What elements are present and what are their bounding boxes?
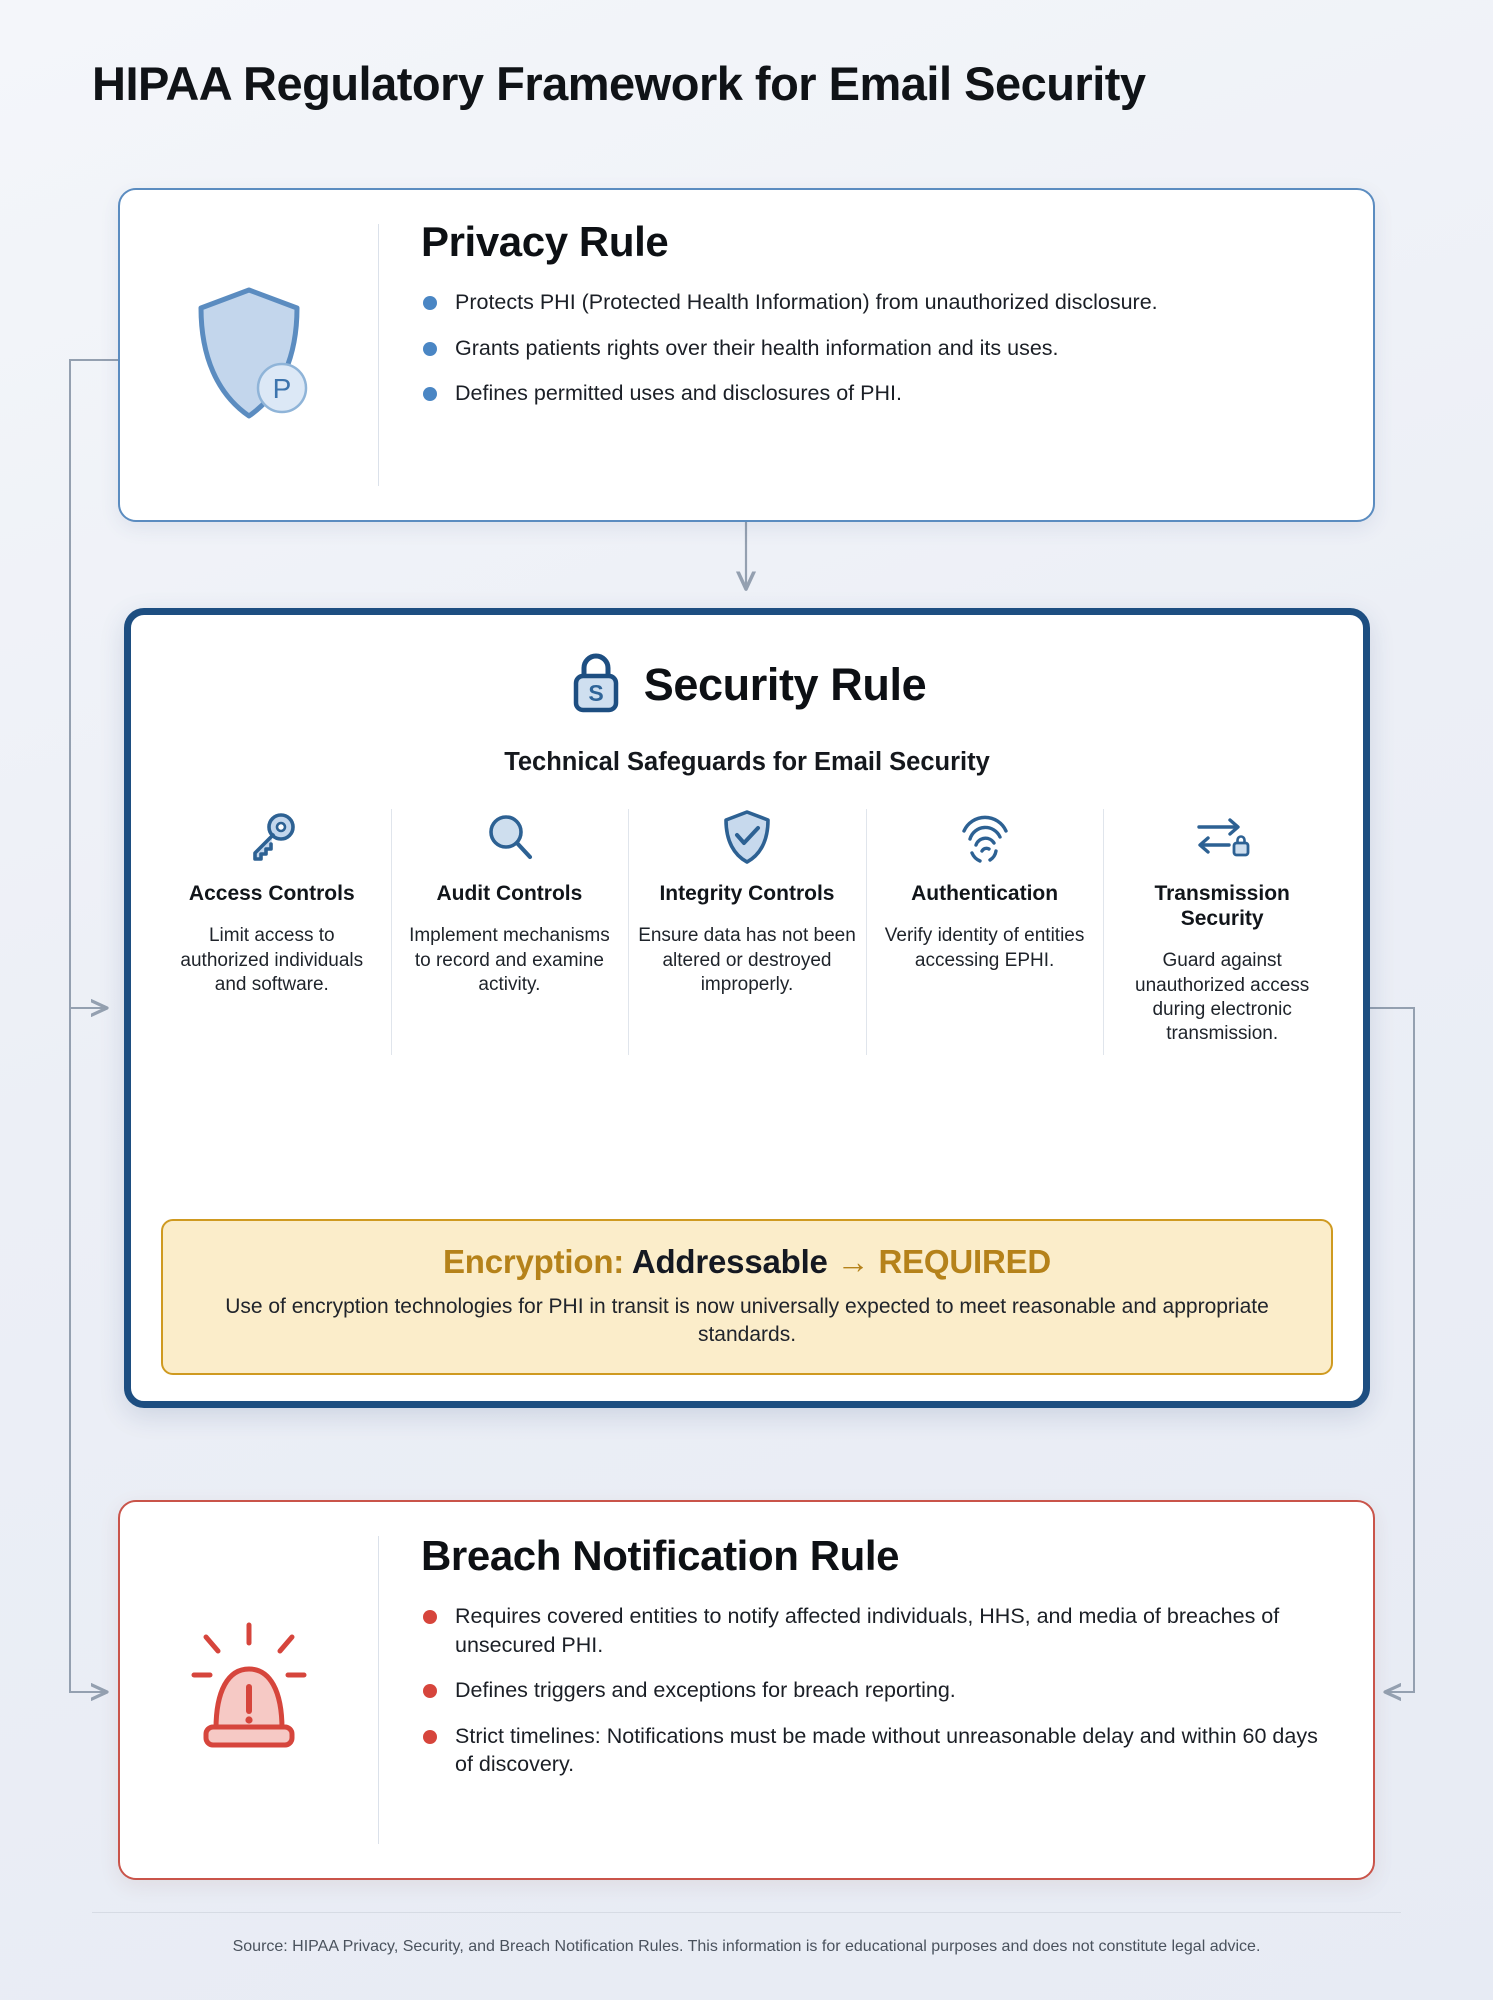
privacy-rule-card: P Privacy Rule Protects PHI (Protected H… — [118, 188, 1375, 522]
encryption-callout: Encryption: Addressable → REQUIRED Use o… — [161, 1219, 1333, 1375]
breach-notification-rule-card: Breach Notification Rule Requires covere… — [118, 1500, 1375, 1880]
safeguard-label: Access Controls — [163, 881, 381, 906]
magnifier-icon — [401, 807, 619, 867]
encryption-headline: Encryption: Addressable → REQUIRED — [193, 1243, 1301, 1281]
encryption-label: Encryption: — [443, 1243, 624, 1280]
list-item: Strict timelines: Notifications must be … — [421, 1722, 1337, 1779]
breach-rule-title: Breach Notification Rule — [421, 1532, 1337, 1580]
safeguard-label: Authentication — [876, 881, 1094, 906]
privacy-rule-title: Privacy Rule — [421, 218, 1339, 266]
safeguard-integrity-controls: Integrity Controls Ensure data has not b… — [628, 803, 866, 1065]
footer-divider — [92, 1912, 1401, 1913]
transfer-lock-icon — [1113, 807, 1331, 867]
safeguard-transmission-security: Transmission Security Guard against unau… — [1103, 803, 1341, 1065]
safeguard-label: Integrity Controls — [638, 881, 856, 906]
privacy-bullet-list: Protects PHI (Protected Health Informati… — [421, 288, 1339, 408]
safeguard-access-controls: Access Controls Limit access to authoriz… — [153, 803, 391, 1065]
lock-s-icon: S — [568, 649, 624, 720]
safeguard-description: Guard against unauthorized access during… — [1113, 949, 1331, 1046]
page-title: HIPAA Regulatory Framework for Email Sec… — [92, 56, 1146, 111]
encryption-arrow-icon: → — [837, 1243, 870, 1280]
security-rule-title: Security Rule — [644, 659, 926, 711]
encryption-status-from: Addressable — [632, 1243, 828, 1280]
lock-badge-letter: S — [588, 680, 603, 706]
shield-check-icon — [638, 807, 856, 867]
encryption-status-to: REQUIRED — [878, 1243, 1051, 1280]
list-item: Defines permitted uses and disclosures o… — [421, 379, 1339, 408]
safeguards-grid: Access Controls Limit access to authoriz… — [153, 803, 1341, 1065]
security-rule-card: S Security Rule Technical Safeguards for… — [124, 608, 1370, 1408]
safeguard-label: Transmission Security — [1113, 881, 1331, 931]
safeguard-description: Implement mechanisms to record and exami… — [401, 924, 619, 997]
safeguard-description: Limit access to authorized individuals a… — [163, 924, 381, 997]
encryption-description: Use of encryption technologies for PHI i… — [193, 1293, 1301, 1349]
security-rule-subtitle: Technical Safeguards for Email Security — [131, 748, 1363, 777]
safeguard-description: Verify identity of entities accessing EP… — [876, 924, 1094, 973]
footer-source: Source: HIPAA Privacy, Security, and Bre… — [0, 1938, 1493, 1956]
key-icon — [163, 807, 381, 867]
safeguard-description: Ensure data has not been altered or dest… — [638, 924, 856, 997]
breach-icon-column — [120, 1502, 378, 1878]
list-item: Protects PHI (Protected Health Informati… — [421, 288, 1339, 317]
list-item: Requires covered entities to notify affe… — [421, 1602, 1337, 1659]
shield-badge-letter: P — [273, 373, 292, 404]
list-item: Grants patients rights over their health… — [421, 334, 1339, 363]
safeguard-authentication: Authentication Verify identity of entiti… — [866, 803, 1104, 1065]
shield-p-icon: P — [185, 278, 313, 433]
alarm-icon — [184, 1617, 314, 1764]
safeguard-label: Audit Controls — [401, 881, 619, 906]
list-item: Defines triggers and exceptions for brea… — [421, 1676, 1337, 1705]
fingerprint-icon — [876, 807, 1094, 867]
security-rule-header: S Security Rule — [131, 649, 1363, 720]
breach-bullet-list: Requires covered entities to notify affe… — [421, 1602, 1337, 1779]
safeguard-audit-controls: Audit Controls Implement mechanisms to r… — [391, 803, 629, 1065]
privacy-icon-column: P — [120, 190, 378, 520]
